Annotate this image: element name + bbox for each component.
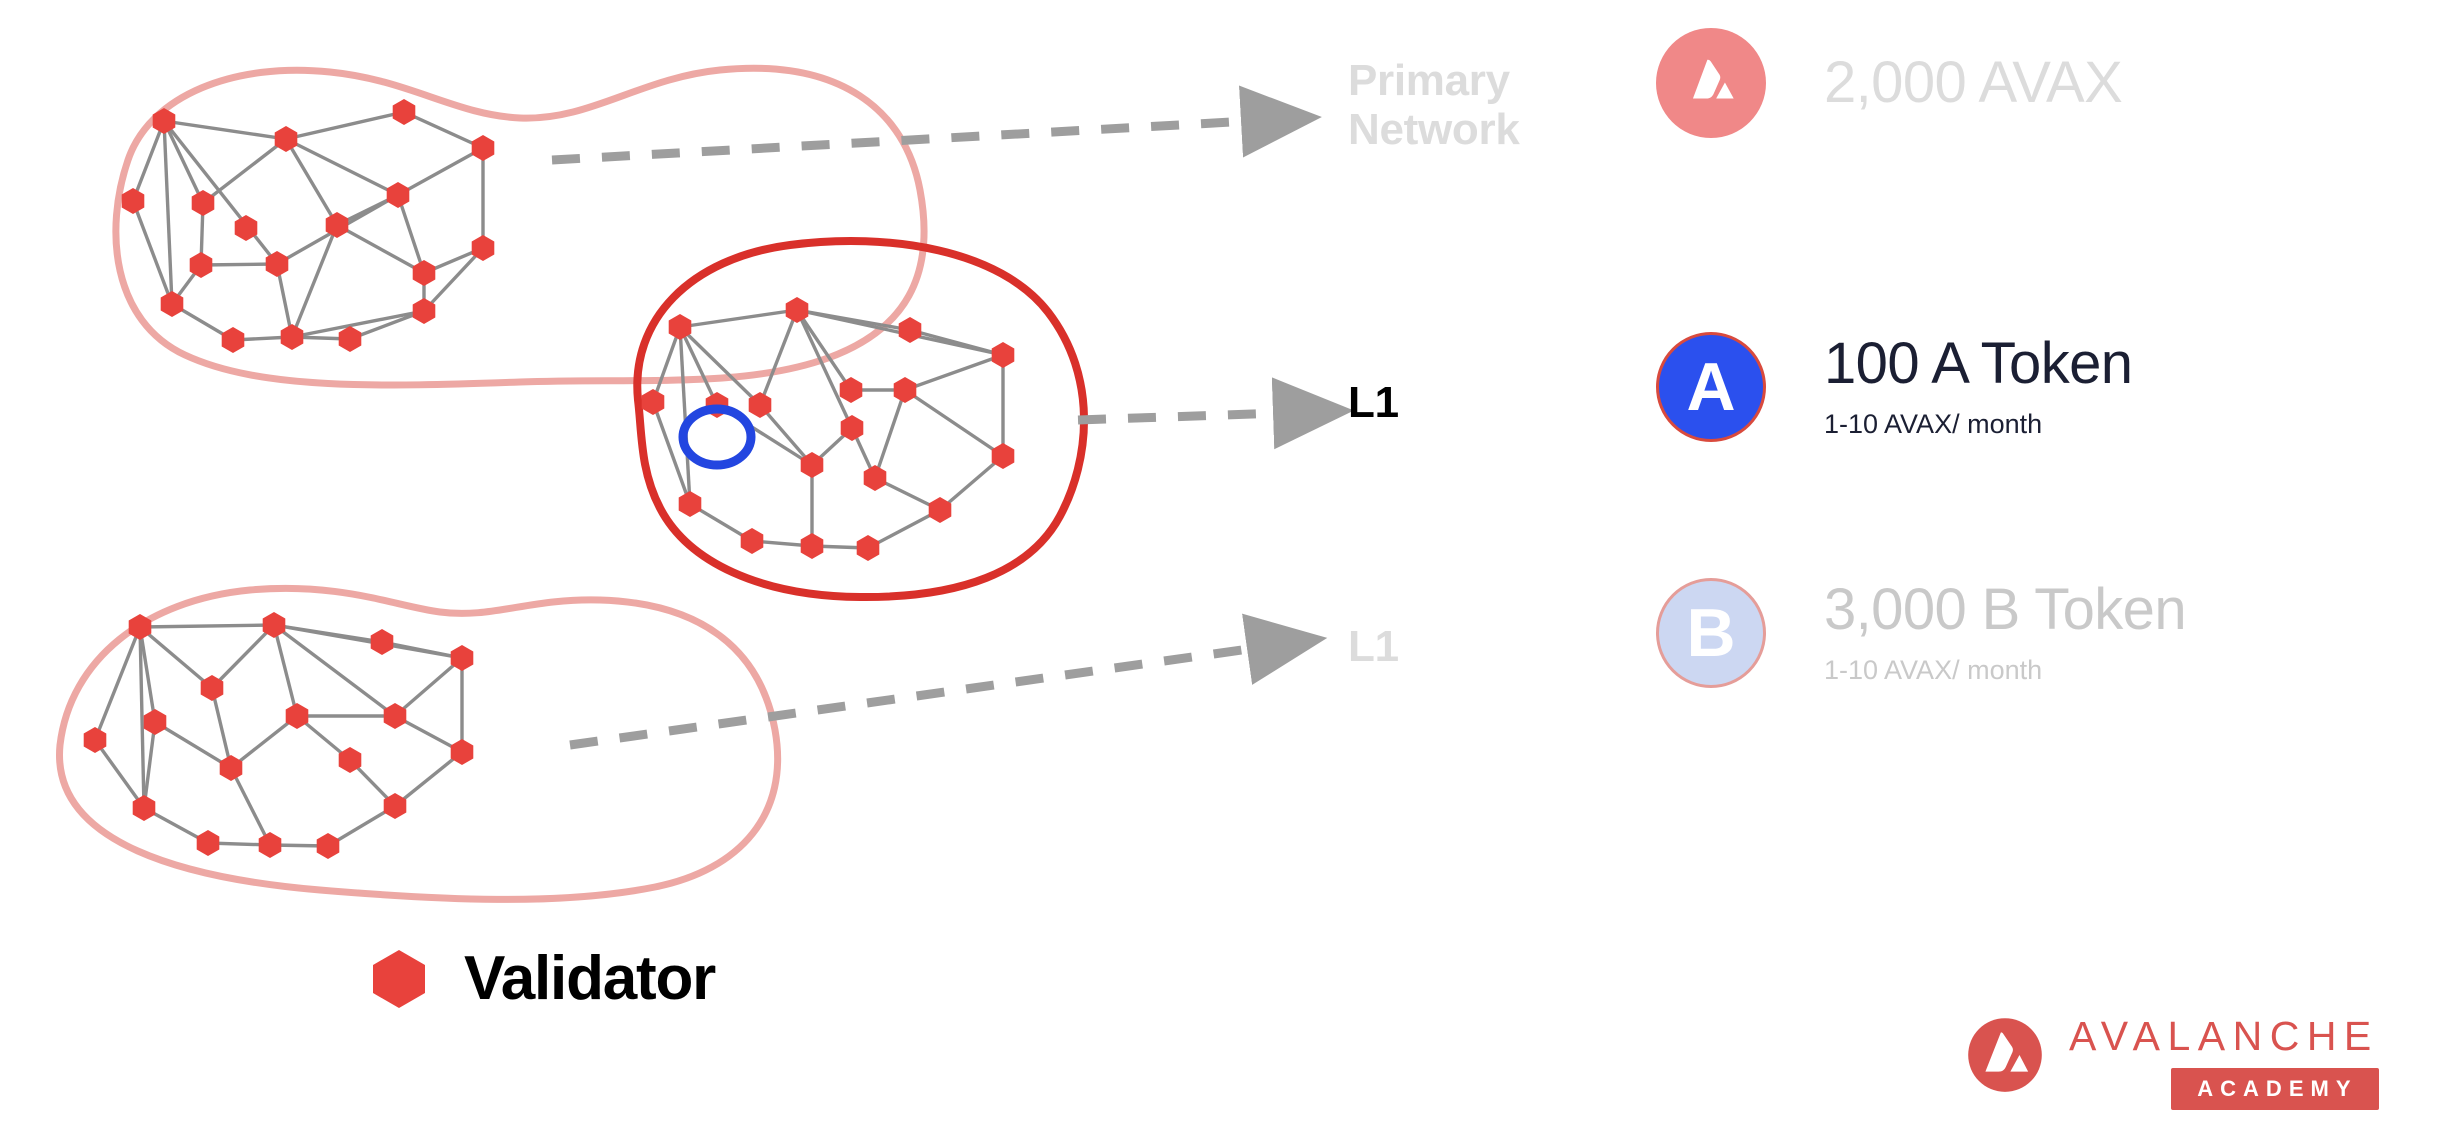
network-diagram-svg (0, 0, 2444, 1148)
stake-amount: 100 A Token (1824, 333, 2132, 396)
flow-label-l1-a: L1 (1348, 378, 1399, 427)
diagram-canvas: Primary Network L1 L1 2,000 AVAX A 100 A… (0, 0, 2444, 1148)
flow-label-primary-network: Primary Network (1348, 56, 1520, 155)
stake-row-l1-b: B 3,000 B Token 1-10 AVAX/ month (1656, 578, 2186, 688)
stake-row-primary-network: 2,000 AVAX (1656, 28, 2122, 138)
stake-amount: 3,000 B Token (1824, 579, 2186, 642)
token-b-letter: B (1686, 599, 1735, 667)
validator-hexagon-icon (368, 948, 430, 1010)
avalanche-academy-logo: AVALANCHE ACADEMY (1967, 1015, 2379, 1110)
avalanche-logo-icon (1967, 1017, 2043, 1093)
avax-badge (1656, 28, 1766, 138)
stake-row-l1-a: A 100 A Token 1-10 AVAX/ month (1656, 332, 2132, 442)
flow-label-l1-b: L1 (1348, 622, 1399, 671)
brand-text-block: AVALANCHE ACADEMY (2069, 1015, 2379, 1110)
token-a-letter: A (1686, 353, 1735, 421)
stake-text-primary-network: 2,000 AVAX (1824, 52, 2122, 115)
stake-subtext: 1-10 AVAX/ month (1824, 408, 2132, 440)
stake-amount: 2,000 AVAX (1824, 52, 2122, 115)
stake-text-l1-b: 3,000 B Token 1-10 AVAX/ month (1824, 579, 2186, 686)
legend: Validator (368, 948, 715, 1010)
brand-wordmark: AVALANCHE (2069, 1015, 2379, 1058)
legend-label: Validator (464, 948, 715, 1010)
stake-text-l1-a: 100 A Token 1-10 AVAX/ month (1824, 333, 2132, 440)
brand-academy-badge: ACADEMY (2171, 1068, 2379, 1110)
token-a-badge: A (1656, 332, 1766, 442)
stake-subtext: 1-10 AVAX/ month (1824, 654, 2186, 686)
network-outline-l1-b (59, 588, 777, 899)
network-graph-primary (116, 68, 924, 385)
network-graph-l1-b (59, 588, 777, 899)
avax-logo-icon (1678, 50, 1744, 116)
arrow-l1-b (570, 648, 1256, 745)
token-b-badge: B (1656, 578, 1766, 688)
network-nodes-l1-a (642, 297, 1015, 561)
arrow-l1-a (1078, 413, 1282, 420)
network-graph-l1-a (637, 241, 1084, 597)
